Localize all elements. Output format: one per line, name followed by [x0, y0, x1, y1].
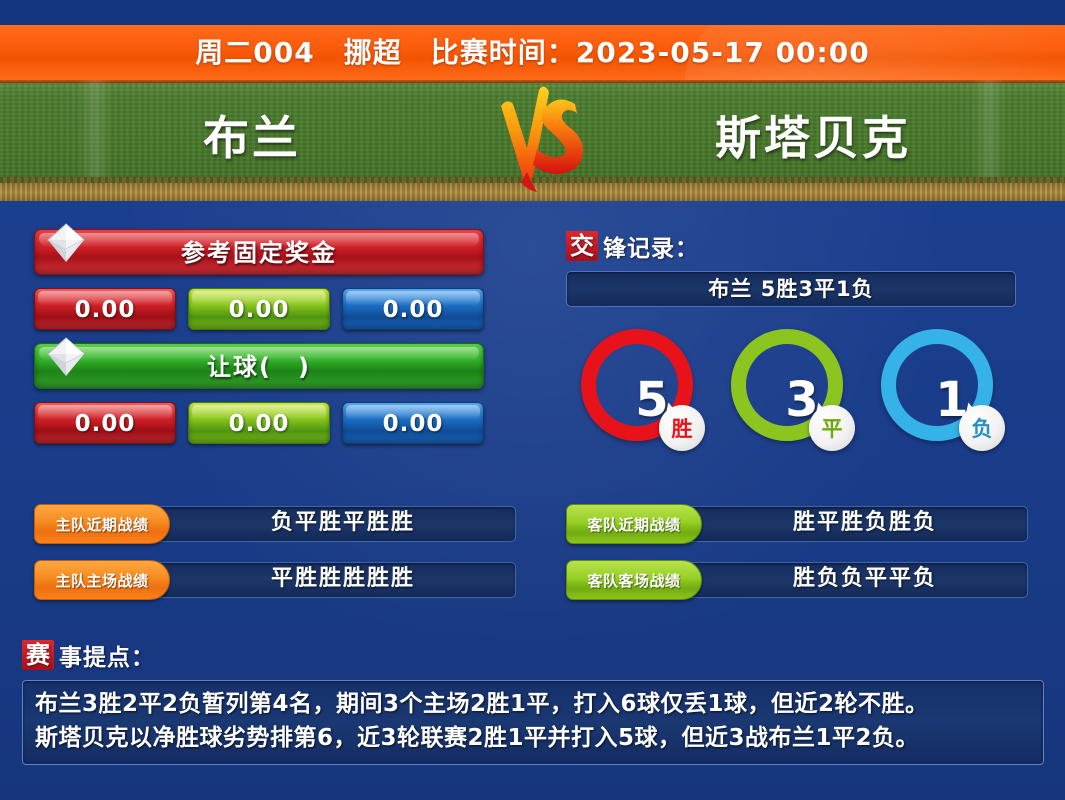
home-recent-label: 主队近期战绩: [34, 504, 170, 544]
h2h-ring-draw: 3 平: [731, 329, 851, 449]
home-recent-value: 负平胜平胜胜: [170, 506, 516, 542]
h2h-summary: 布兰 5胜3平1负: [566, 271, 1016, 307]
h2h-ring-win: 5 胜: [581, 329, 701, 449]
fixed-odd-draw[interactable]: 0.00: [188, 288, 330, 330]
analysis-line-1: 布兰3胜2平2负暂列第4名，期间3个主场2胜1平，打入6球仅丢1球，但近2轮不胜…: [35, 687, 1031, 721]
handicap-banner: 让球( ): [34, 343, 484, 389]
away-form-group: 客队近期战绩 胜平胜负胜负 客队客场战绩 胜负负平平负: [566, 504, 1028, 616]
away-recent-label: 客队近期战绩: [566, 504, 702, 544]
diamond-gem-icon: [43, 220, 89, 266]
away-recent-value: 胜平胜负胜负: [702, 506, 1028, 542]
analysis-section: 赛 事提点： 布兰3胜2平2负暂列第4名，期间3个主场2胜1平，打入6球仅丢1球…: [22, 638, 1044, 765]
home-team-name: 布兰: [52, 102, 452, 168]
fixed-prize-label: 参考固定奖金: [35, 230, 483, 276]
analysis-section-title: 事提点：: [59, 638, 155, 672]
analysis-section-header: 赛 事提点：: [22, 638, 1044, 672]
home-venue-label: 主队主场战绩: [34, 560, 170, 600]
handicap-odd-draw[interactable]: 0.00: [188, 402, 330, 444]
odds-panel: 参考固定奖金 0.00 0.00 0.00 让球( ) 0.00 0: [34, 229, 484, 457]
draw-badge: 平: [809, 405, 855, 451]
fixed-odd-away[interactable]: 0.00: [342, 288, 484, 330]
diamond-gem-icon: [43, 334, 89, 380]
header-bar: 周二004 挪超 比赛时间：2023-05-17 00:00: [0, 25, 1065, 80]
h2h-rings: 5 胜 3 平 1 负: [566, 329, 1016, 449]
header-title: 周二004 挪超 比赛时间：2023-05-17 00:00: [0, 25, 1065, 80]
vs-flame-icon: [483, 84, 589, 194]
home-venue-value: 平胜胜胜胜胜: [170, 562, 516, 598]
away-venue-form-row: 客队客场战绩 胜负负平平负: [566, 560, 1028, 600]
fixed-prize-odds-row: 0.00 0.00 0.00: [34, 288, 484, 330]
away-team-name: 斯塔贝克: [613, 102, 1013, 168]
home-form-group: 主队近期战绩 负平胜平胜胜 主队主场战绩 平胜胜胜胜胜: [34, 504, 516, 616]
fixed-odd-home[interactable]: 0.00: [34, 288, 176, 330]
win-badge: 胜: [659, 405, 705, 451]
lose-badge: 负: [959, 405, 1005, 451]
head-to-head-panel: 交 锋记录： 布兰 5胜3平1负 5 胜 3 平: [566, 229, 1016, 449]
h2h-section-header: 交 锋记录：: [566, 229, 1016, 263]
home-recent-form-row: 主队近期战绩 负平胜平胜胜: [34, 504, 516, 544]
away-venue-value: 胜负负平平负: [702, 562, 1028, 598]
h2h-glyph-badge: 交: [566, 231, 598, 261]
home-venue-form-row: 主队主场战绩 平胜胜胜胜胜: [34, 560, 516, 600]
h2h-section-title: 锋记录：: [603, 229, 699, 263]
analysis-box: 布兰3胜2平2负暂列第4名，期间3个主场2胜1平，打入6球仅丢1球，但近2轮不胜…: [22, 680, 1044, 765]
handicap-odd-away[interactable]: 0.00: [342, 402, 484, 444]
handicap-odds-row: 0.00 0.00 0.00: [34, 402, 484, 444]
main-body: 参考固定奖金 0.00 0.00 0.00 让球( ) 0.00 0: [0, 201, 1065, 800]
fixed-prize-banner: 参考固定奖金: [34, 229, 484, 275]
match-preview-page: 周二004 挪超 比赛时间：2023-05-17 00:00 布兰 斯塔贝克: [0, 0, 1065, 800]
away-recent-form-row: 客队近期战绩 胜平胜负胜负: [566, 504, 1028, 544]
analysis-glyph-badge: 赛: [22, 640, 54, 670]
h2h-ring-lose: 1 负: [881, 329, 1001, 449]
handicap-odd-home[interactable]: 0.00: [34, 402, 176, 444]
analysis-line-2: 斯塔贝克以净胜球劣势排第6，近3轮联赛2胜1平并打入5球，但近3战布兰1平2负。: [35, 721, 1031, 755]
handicap-label: 让球( ): [35, 344, 483, 390]
away-venue-label: 客队客场战绩: [566, 560, 702, 600]
